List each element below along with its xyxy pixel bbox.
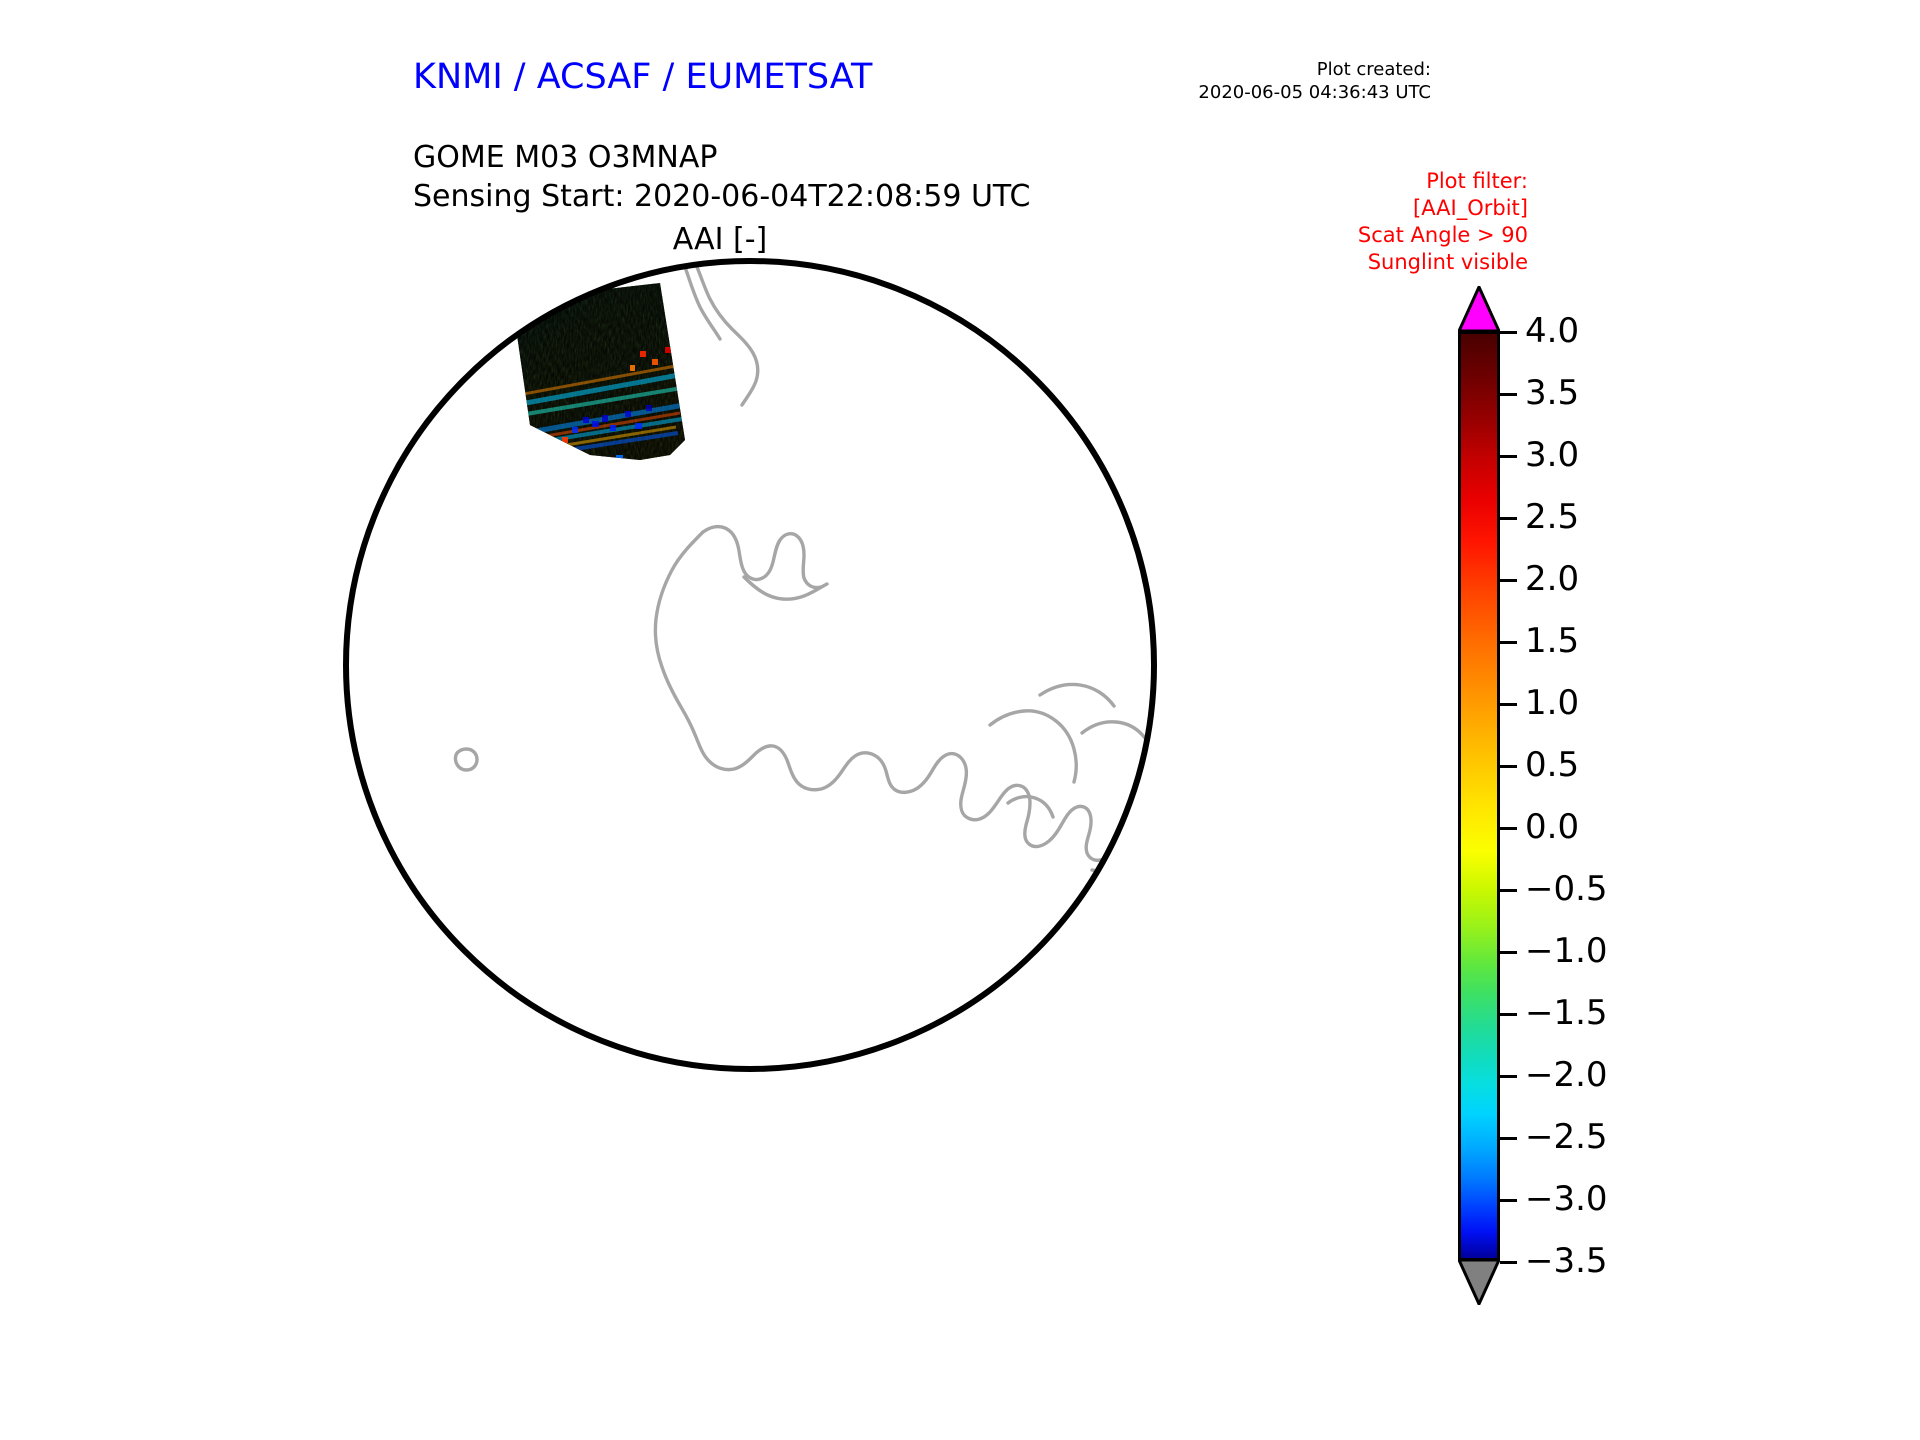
colorbar-tick-label: 1.0	[1525, 683, 1579, 723]
globe-disc	[346, 261, 1154, 1069]
colorbar: 4.03.53.02.52.01.51.00.50.0−0.5−1.0−1.5−…	[1448, 283, 1648, 1303]
colorbar-tick	[1500, 1075, 1517, 1078]
colorbar-under-range-arrow	[1458, 1259, 1500, 1305]
colorbar-tick-label: −3.5	[1525, 1241, 1608, 1281]
plot-created-block: Plot created: 2020-06-05 04:36:43 UTC	[1198, 58, 1431, 104]
page-title: AAI [-]	[0, 222, 1440, 257]
plot-filter-note: Sunglint visible	[1358, 249, 1528, 276]
colorbar-tick-label: 2.0	[1525, 559, 1579, 599]
colorbar-tick	[1500, 331, 1517, 334]
colorbar-tick-label: 2.5	[1525, 497, 1579, 537]
colorbar-tick-label: 0.0	[1525, 807, 1579, 847]
colorbar-tick-label: 1.5	[1525, 621, 1579, 661]
organisations-title: KNMI / ACSAF / EUMETSAT	[413, 57, 872, 97]
colorbar-tick-label: −1.0	[1525, 931, 1608, 971]
colorbar-tick-label: −2.0	[1525, 1055, 1608, 1095]
polar-stereographic-map	[340, 255, 1160, 1075]
plot-filter-condition: Scat Angle > 90	[1358, 222, 1528, 249]
colorbar-tick	[1500, 703, 1517, 706]
instrument-product-label: GOME M03 O3MNAP	[413, 140, 717, 175]
plot-created-label: Plot created:	[1198, 58, 1431, 81]
colorbar-tick	[1500, 393, 1517, 396]
colorbar-tick	[1500, 455, 1517, 458]
colorbar-tick-label: 3.5	[1525, 373, 1579, 413]
colorbar-tick	[1500, 765, 1517, 768]
colorbar-tick	[1500, 1199, 1517, 1202]
plot-filter-block: Plot filter: [AAI_Orbit] Scat Angle > 90…	[1358, 168, 1528, 276]
colorbar-tick	[1500, 1013, 1517, 1016]
globe-svg	[340, 255, 1160, 1075]
colorbar-tick-label: −1.5	[1525, 993, 1608, 1033]
colorbar-tick	[1500, 1137, 1517, 1140]
colorbar-tick	[1500, 641, 1517, 644]
colorbar-tick-label: −0.5	[1525, 869, 1608, 909]
colorbar-gradient-bar	[1458, 331, 1500, 1261]
sensing-start-label: Sensing Start: 2020-06-04T22:08:59 UTC	[413, 179, 1030, 214]
colorbar-tick	[1500, 951, 1517, 954]
plot-created-timestamp: 2020-06-05 04:36:43 UTC	[1198, 81, 1431, 104]
colorbar-tick	[1500, 579, 1517, 582]
colorbar-tick	[1500, 517, 1517, 520]
colorbar-gradient-fill	[1461, 334, 1497, 1258]
plot-filter-name: [AAI_Orbit]	[1358, 195, 1528, 222]
colorbar-tick-label: −2.5	[1525, 1117, 1608, 1157]
colorbar-tick-label: 3.0	[1525, 435, 1579, 475]
plot-filter-label: Plot filter:	[1358, 168, 1528, 195]
colorbar-tick	[1500, 889, 1517, 892]
colorbar-tick	[1500, 1261, 1517, 1264]
colorbar-tick-label: 0.5	[1525, 745, 1579, 785]
colorbar-tick-label: −3.0	[1525, 1179, 1608, 1219]
colorbar-tick-label: 4.0	[1525, 311, 1579, 351]
colorbar-over-range-arrow	[1458, 286, 1500, 332]
colorbar-tick	[1500, 827, 1517, 830]
